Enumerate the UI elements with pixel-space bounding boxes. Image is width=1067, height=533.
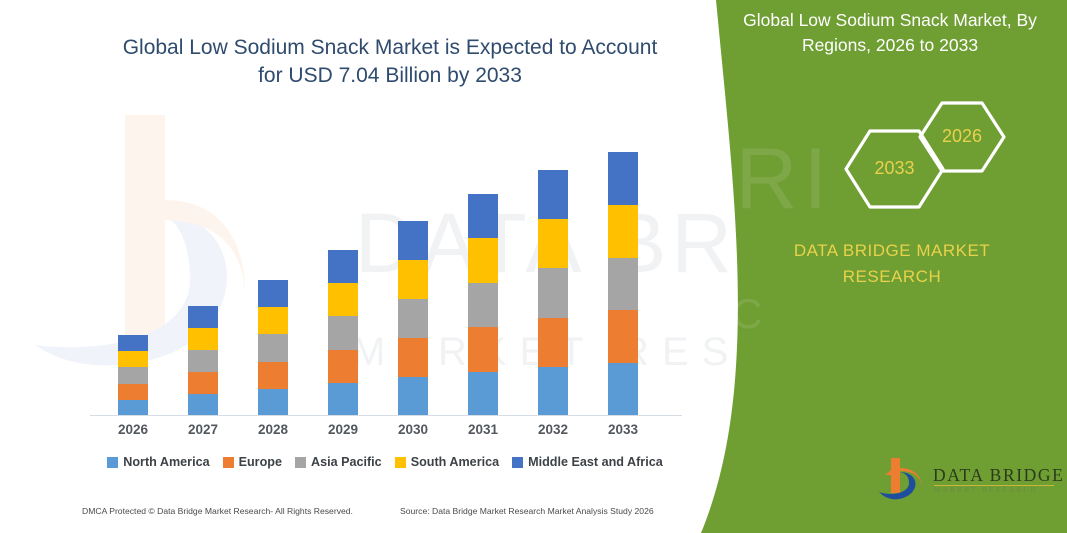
footer-copyright: DMCA Protected © Data Bridge Market Rese… — [82, 506, 353, 516]
x-axis-label-2030: 2030 — [383, 422, 443, 437]
bar-segment-south-america — [608, 205, 638, 258]
bar-segment-europe — [538, 318, 568, 367]
brand-name: DATA BRIDGE MARKET RESEARCH — [742, 238, 1042, 289]
bar-2030 — [398, 221, 428, 416]
bar-segment-europe — [188, 372, 218, 394]
hexagon-shapes — [822, 95, 1022, 210]
bar-segment-north-america — [468, 372, 498, 416]
legend-label: Europe — [239, 455, 282, 469]
legend-swatch-icon — [295, 457, 306, 468]
bar-segment-asia-pacific — [188, 350, 218, 372]
bar-segment-south-america — [258, 307, 288, 334]
x-axis-line — [90, 415, 682, 416]
bar-segment-middle-east-and-africa — [608, 152, 638, 205]
x-axis-label-2033: 2033 — [593, 422, 653, 437]
bar-segment-north-america — [258, 389, 288, 416]
bar-chart-plot — [90, 120, 680, 416]
x-axis-label-2026: 2026 — [103, 422, 163, 437]
bar-segment-asia-pacific — [468, 283, 498, 327]
legend-item-north-america[interactable]: North America — [107, 455, 209, 469]
logo-title: DATA BRIDGE — [933, 465, 1064, 486]
infographic-root: DATA BRIDGE MARKET RESEARCH Global Low S… — [0, 0, 1067, 533]
brand-line-1: DATA BRIDGE MARKET — [742, 238, 1042, 264]
legend-label: Asia Pacific — [311, 455, 382, 469]
bar-2026 — [118, 335, 148, 416]
legend-item-middle-east-and-africa[interactable]: Middle East and Africa — [512, 455, 663, 469]
panel-watermark-primary: BRI — [672, 130, 833, 229]
legend-swatch-icon — [107, 457, 118, 468]
bar-segment-south-america — [118, 351, 148, 367]
bar-2029 — [328, 250, 358, 416]
legend-swatch-icon — [395, 457, 406, 468]
bar-2032 — [538, 170, 568, 416]
bar-segment-north-america — [398, 377, 428, 416]
legend-item-europe[interactable]: Europe — [223, 455, 282, 469]
legend-label: North America — [123, 455, 209, 469]
footer-source: Source: Data Bridge Market Research Mark… — [400, 506, 654, 516]
chart-title: Global Low Sodium Snack Market is Expect… — [120, 34, 660, 91]
x-axis-label-2032: 2032 — [523, 422, 583, 437]
bar-segment-north-america — [188, 394, 218, 416]
bar-segment-north-america — [118, 400, 148, 416]
x-axis-label-2031: 2031 — [453, 422, 513, 437]
brand-line-2: RESEARCH — [742, 264, 1042, 290]
bar-segment-asia-pacific — [538, 268, 568, 317]
bar-segment-europe — [398, 338, 428, 377]
hexagon-label-right: 2026 — [920, 126, 1004, 147]
bar-2027 — [188, 306, 218, 416]
bar-segment-asia-pacific — [328, 316, 358, 349]
bar-segment-europe — [328, 350, 358, 383]
bar-segment-asia-pacific — [258, 334, 288, 361]
hexagon-label-left: 2033 — [846, 158, 943, 179]
bar-2031 — [468, 194, 498, 416]
green-panel: BRI R C Global Low Sodium Snack Market, … — [712, 0, 1067, 533]
bar-segment-middle-east-and-africa — [258, 280, 288, 307]
bar-segment-north-america — [328, 383, 358, 416]
bar-segment-asia-pacific — [118, 367, 148, 383]
bar-2028 — [258, 280, 288, 416]
bar-segment-south-america — [398, 260, 428, 299]
bar-segment-middle-east-and-africa — [398, 221, 428, 260]
x-axis-label-2029: 2029 — [313, 422, 373, 437]
bar-segment-middle-east-and-africa — [468, 194, 498, 238]
panel-title: Global Low Sodium Snack Market, By Regio… — [734, 8, 1046, 59]
x-axis-label-2027: 2027 — [173, 422, 233, 437]
data-bridge-mark-icon — [877, 455, 929, 505]
hexagon-group: 2026 2033 — [822, 95, 1022, 210]
x-axis-label-2028: 2028 — [243, 422, 303, 437]
bar-segment-middle-east-and-africa — [118, 335, 148, 351]
legend-swatch-icon — [512, 457, 523, 468]
bar-segment-south-america — [468, 238, 498, 282]
bar-segment-south-america — [188, 328, 218, 350]
bar-segment-europe — [468, 327, 498, 371]
bar-segment-middle-east-and-africa — [188, 306, 218, 328]
logo-subtitle: MARKET RESEARCH — [934, 486, 1038, 494]
legend-item-asia-pacific[interactable]: Asia Pacific — [295, 455, 382, 469]
legend-label: Middle East and Africa — [528, 455, 663, 469]
bar-segment-asia-pacific — [398, 299, 428, 338]
bar-segment-south-america — [538, 219, 568, 268]
bar-segment-north-america — [538, 367, 568, 416]
bar-2033 — [608, 152, 638, 416]
legend-label: South America — [411, 455, 499, 469]
footer: DMCA Protected © Data Bridge Market Rese… — [0, 506, 700, 526]
legend-swatch-icon — [223, 457, 234, 468]
bar-segment-asia-pacific — [608, 258, 638, 311]
company-logo: DATA BRIDGE MARKET RESEARCH — [877, 455, 1062, 513]
bar-segment-europe — [118, 384, 148, 400]
bar-segment-south-america — [328, 283, 358, 316]
bar-segment-europe — [608, 310, 638, 363]
bar-segment-north-america — [608, 363, 638, 416]
bar-segment-middle-east-and-africa — [538, 170, 568, 219]
legend-item-south-america[interactable]: South America — [395, 455, 499, 469]
bar-segment-europe — [258, 362, 288, 389]
x-axis-labels: 20262027202820292030203120322033 — [90, 422, 682, 444]
bar-segment-middle-east-and-africa — [328, 250, 358, 283]
chart-legend: North AmericaEuropeAsia PacificSouth Ame… — [90, 455, 680, 469]
